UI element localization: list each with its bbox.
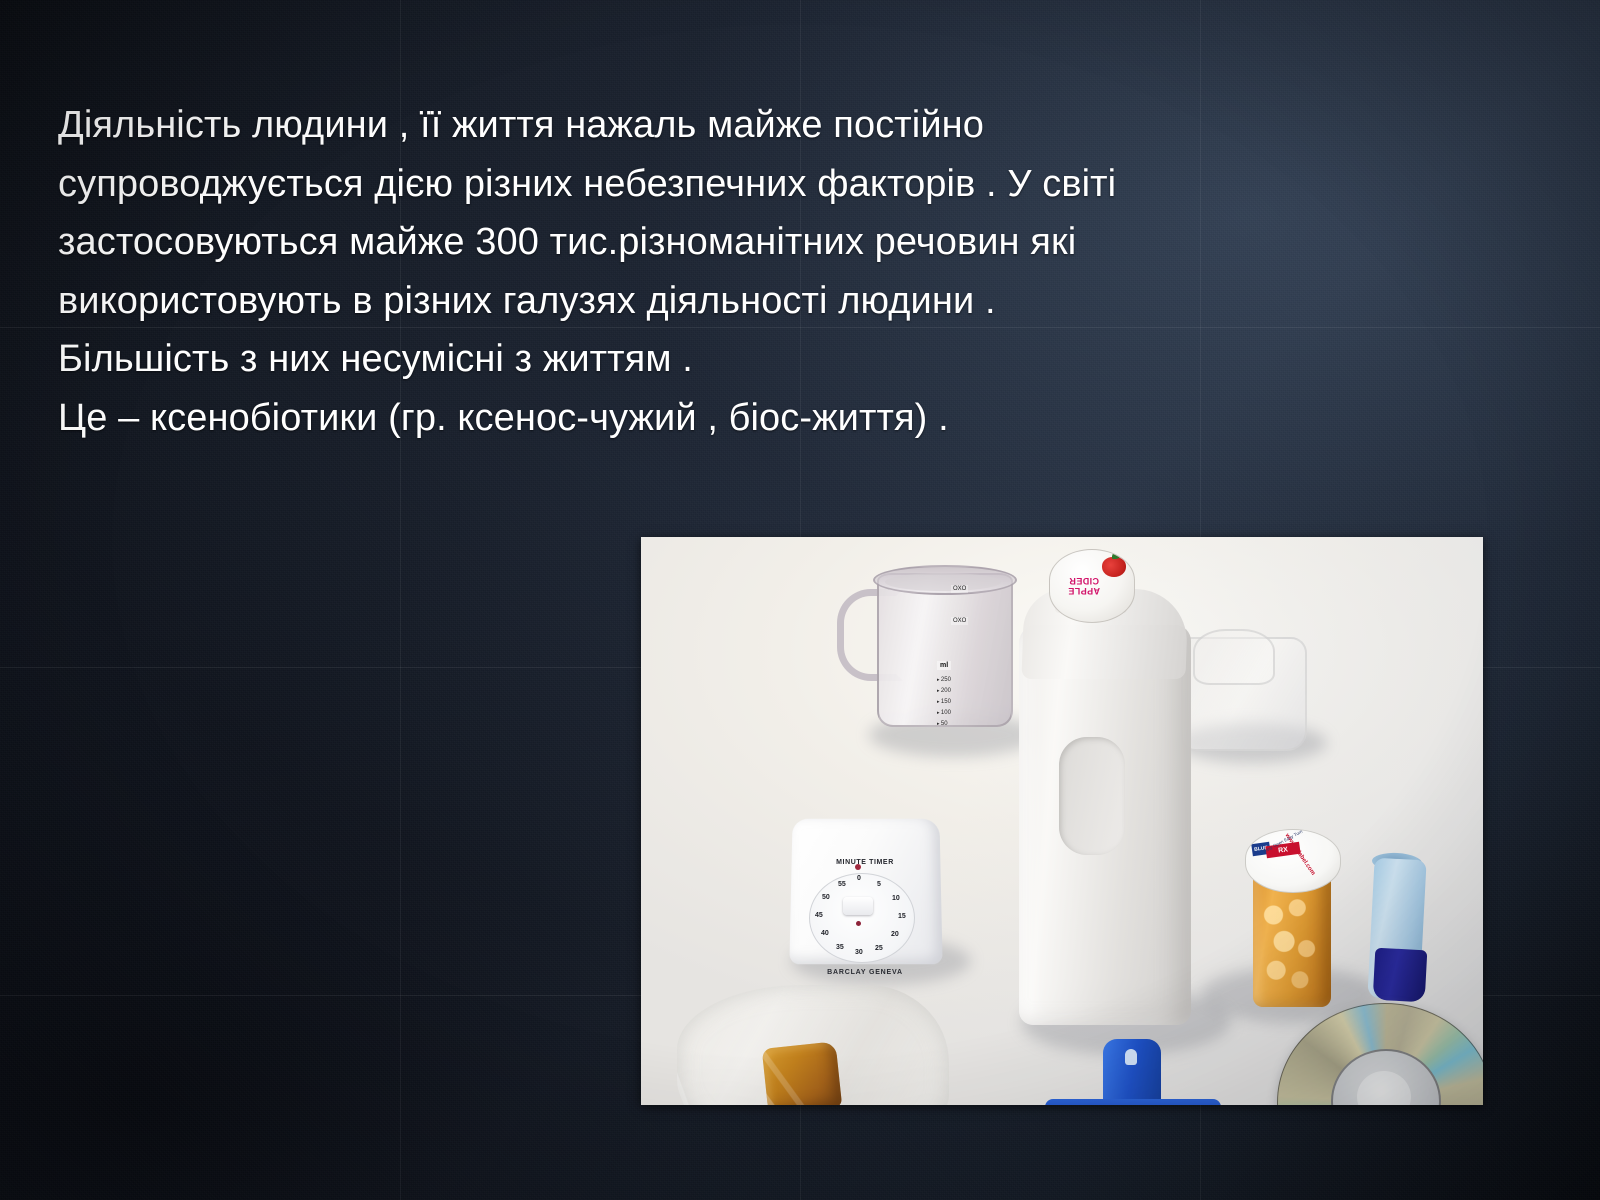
kitchen-timer-brand-top: MINUTE TIMER (801, 859, 929, 866)
jug-cap-label: APPLE CIDER (1056, 576, 1112, 596)
measuring-cup-unit-label: ml (937, 661, 951, 670)
dial-number-0: 0 (857, 875, 861, 882)
plastic-jug-grip (1059, 737, 1125, 855)
presentation-slide: Діяльність людини , її життя нажаль майж… (0, 0, 1600, 1200)
measuring-cup-interior (885, 573, 1001, 591)
slide-photo: OXO OXO ml 250 200 150 100 50 APPLE CIDE… (641, 537, 1483, 1105)
cup-mark-200: 200 (937, 686, 1011, 697)
jug-cap: APPLE CIDER (1049, 549, 1135, 623)
body-line-3: застосовуються майже 300 тис.різноманітн… (58, 213, 1458, 272)
cup-mark-50: 50 (937, 719, 1011, 730)
body-line-4: використовують в різних галузях діяльнос… (58, 272, 1458, 331)
dial-number-20: 20 (891, 931, 899, 938)
dial-number-40: 40 (821, 930, 829, 937)
body-line-1: Діяльність людини , її життя нажаль майж… (58, 96, 1458, 155)
apple-icon (1102, 557, 1126, 577)
measuring-cup-logo-upper: OXO (951, 585, 968, 593)
brown-block-inside-bag (762, 1041, 842, 1105)
kitchen-timer-knob[interactable] (843, 897, 873, 915)
dial-number-10: 10 (892, 895, 900, 902)
pill-cap-url: www.rxlabel.com (1284, 833, 1325, 889)
dial-number-5: 5 (877, 881, 881, 888)
measuring-cup-scale: 250 200 150 100 50 (937, 675, 1011, 730)
scraper-blade (1045, 1099, 1221, 1105)
cup-mark-250: 250 (937, 675, 1011, 686)
clear-plastic-lid (1193, 629, 1275, 685)
pill-bottle-cap: BLUE RX www.rxlabel.com Easy Open Easy T… (1245, 829, 1341, 893)
inhaler-cap (1373, 948, 1428, 1003)
measuring-cup-logo-mid: OXO (951, 617, 968, 625)
dial-number-45: 45 (815, 912, 823, 919)
dial-number-50: 50 (822, 894, 830, 901)
body-line-2: супроводжується дією різних небезпечних … (58, 155, 1458, 214)
dial-number-25: 25 (875, 945, 883, 952)
kitchen-timer-brand-bottom: BARCLAY GENEVA (797, 969, 933, 976)
cup-mark-150: 150 (937, 697, 1011, 708)
body-line-5: Більшість з них несумісні з життям . (58, 330, 1458, 389)
kitchen-timer-dial-numbers: 0 5 10 15 20 25 30 35 40 45 50 55 (809, 873, 913, 961)
scraper-hole (1125, 1049, 1137, 1065)
dial-number-15: 15 (898, 913, 906, 920)
cup-mark-100: 100 (937, 708, 1011, 719)
body-line-6: Це – ксенобіотики (гр. ксенос-чужий , бі… (58, 389, 1458, 448)
dial-number-30: 30 (855, 949, 863, 956)
slide-body-text: Діяльність людини , її життя нажаль майж… (58, 96, 1458, 447)
dial-number-55: 55 (838, 881, 846, 888)
dial-number-35: 35 (836, 944, 844, 951)
kitchen-timer-pointer (856, 921, 861, 926)
